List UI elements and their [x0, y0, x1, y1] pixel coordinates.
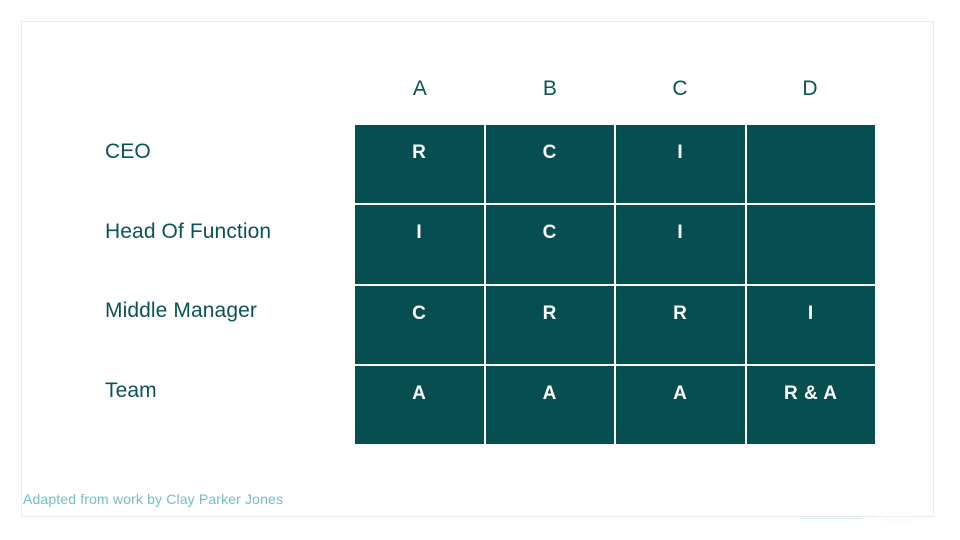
matrix-cell: I: [355, 205, 484, 283]
matrix-cell: A: [486, 366, 615, 444]
raci-matrix-grid: R C I I C I C R R I A A A R & A: [355, 125, 875, 444]
matrix-cell: R: [355, 125, 484, 203]
matrix-cell: C: [355, 286, 484, 364]
row-label-head-of-function: Head Of Function: [105, 205, 350, 285]
matrix-cell: A: [616, 366, 745, 444]
attribution-credit: Adapted from work by Clay Parker Jones: [23, 491, 283, 507]
row-label-ceo: CEO: [105, 125, 350, 205]
brand-label: aug.co: [883, 513, 912, 523]
matrix-column-headers: A B C D: [355, 74, 875, 104]
matrix-cell: I: [616, 205, 745, 283]
column-header-c: C: [615, 74, 745, 104]
slide-canvas: A B C D CEO Head Of Function Middle Mana…: [0, 0, 960, 540]
slide-watermark: 2 aug.co: [800, 510, 940, 526]
page-number: 2: [870, 513, 875, 523]
row-label-team: Team: [105, 364, 350, 444]
row-label-middle-manager: Middle Manager: [105, 285, 350, 365]
column-header-b: B: [485, 74, 615, 104]
matrix-row-labels: CEO Head Of Function Middle Manager Team: [105, 125, 350, 444]
matrix-cell: R: [486, 286, 615, 364]
matrix-cell: [747, 205, 876, 283]
column-header-d: D: [745, 74, 875, 104]
matrix-cell: R: [616, 286, 745, 364]
matrix-cell: I: [616, 125, 745, 203]
matrix-cell: I: [747, 286, 876, 364]
watermark-rule: [800, 518, 862, 519]
matrix-cell: C: [486, 205, 615, 283]
column-header-a: A: [355, 74, 485, 104]
matrix-cell: R & A: [747, 366, 876, 444]
matrix-cell: C: [486, 125, 615, 203]
matrix-cell: [747, 125, 876, 203]
matrix-cell: A: [355, 366, 484, 444]
